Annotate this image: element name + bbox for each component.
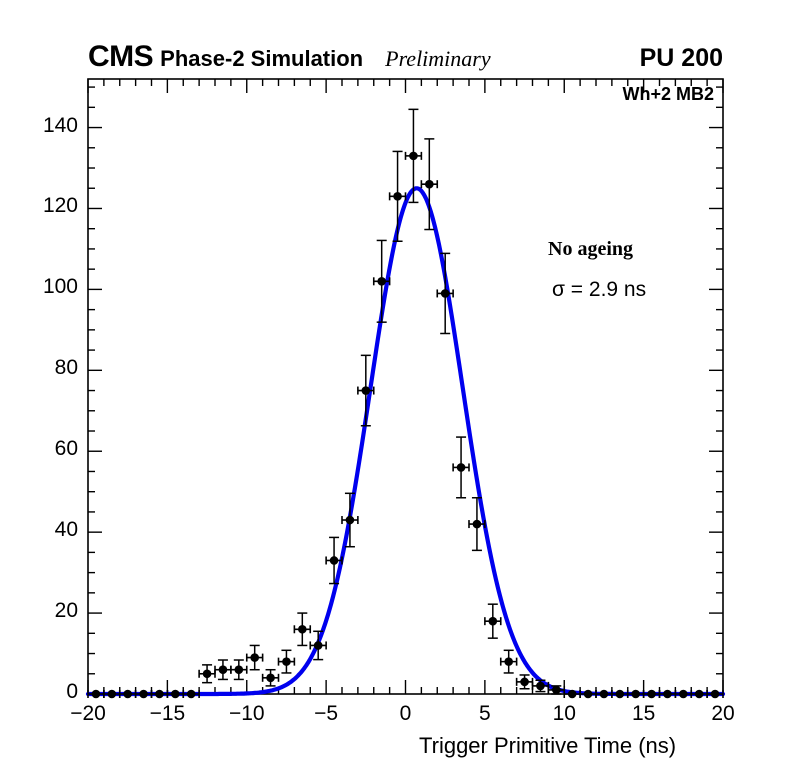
- data-point-marker: [219, 665, 228, 674]
- data-point-marker: [457, 463, 466, 472]
- panel-label: Wh+2 MB2: [622, 84, 714, 105]
- cms-header: CMS Phase-2 Simulation Preliminary PU 20…: [88, 42, 723, 74]
- data-point-marker: [92, 690, 101, 699]
- data-point-marker: [171, 690, 180, 699]
- data-point-marker: [235, 665, 244, 674]
- data-point-marker: [695, 690, 704, 699]
- y-tick-label: 100: [0, 275, 78, 299]
- data-point-marker: [298, 625, 307, 634]
- data-point-marker: [711, 690, 720, 699]
- y-axis-title: Events: [0, 80, 6, 200]
- data-point-marker: [282, 657, 291, 666]
- annotation-resolution: σ = 2.9 ns: [552, 278, 646, 302]
- x-tick-label: 10: [524, 702, 604, 726]
- data-point-marker: [473, 520, 482, 529]
- data-point-marker: [536, 682, 545, 691]
- data-point-marker: [631, 690, 640, 699]
- data-point-marker: [330, 556, 339, 565]
- data-point-marker: [314, 641, 323, 650]
- data-point-marker: [108, 690, 117, 699]
- data-point-marker: [203, 669, 212, 678]
- data-point-marker: [584, 690, 593, 699]
- x-tick-label: −20: [48, 702, 128, 726]
- data-point-marker: [123, 690, 132, 699]
- data-point-marker: [409, 152, 418, 161]
- data-point-marker: [552, 686, 561, 695]
- data-point-marker: [616, 690, 625, 699]
- cms-logo: CMS: [88, 42, 153, 72]
- data-point-marker: [377, 277, 386, 286]
- y-tick-label: 60: [0, 437, 78, 461]
- data-point-marker: [663, 690, 672, 699]
- data-point-marker: [520, 678, 529, 687]
- x-tick-label: 0: [366, 702, 446, 726]
- data-point-marker: [441, 289, 450, 298]
- data-point-marker: [187, 690, 196, 699]
- data-point-marker: [504, 657, 513, 666]
- y-tick-label: 140: [0, 114, 78, 138]
- data-point-marker: [362, 386, 371, 395]
- cms-subtitle: Phase-2 Simulation: [160, 48, 363, 70]
- y-tick-label: 20: [0, 599, 78, 623]
- data-point-marker: [425, 180, 434, 189]
- data-point-marker: [155, 690, 164, 699]
- y-tick-label: 0: [0, 680, 78, 704]
- data-point-marker: [250, 653, 259, 662]
- data-point-marker: [346, 516, 355, 525]
- data-point-marker: [647, 690, 656, 699]
- x-tick-label: −5: [286, 702, 366, 726]
- x-tick-label: 5: [445, 702, 525, 726]
- x-tick-label: 15: [604, 702, 684, 726]
- data-points-group: [88, 109, 723, 698]
- x-tick-label: −15: [127, 702, 207, 726]
- data-point-marker: [139, 690, 148, 699]
- y-tick-label: 120: [0, 194, 78, 218]
- data-point-marker: [489, 617, 498, 626]
- pileup-label: PU 200: [640, 46, 723, 71]
- cms-status-preliminary: Preliminary: [385, 48, 491, 70]
- plot-frame: [88, 79, 723, 694]
- x-tick-label: 20: [683, 702, 763, 726]
- x-axis-title: Trigger Primitive Time (ns): [419, 733, 676, 759]
- y-tick-label: 40: [0, 518, 78, 542]
- x-tick-label: −10: [207, 702, 287, 726]
- data-point-marker: [600, 690, 609, 699]
- plot-canvas: [0, 0, 796, 772]
- data-point-marker: [568, 690, 577, 699]
- data-point-marker: [393, 192, 402, 201]
- data-point-marker: [266, 674, 275, 683]
- y-tick-label: 80: [0, 356, 78, 380]
- gaussian-fit-curve: [88, 188, 723, 694]
- annotation-scenario: No ageing: [548, 238, 633, 261]
- data-point-marker: [679, 690, 688, 699]
